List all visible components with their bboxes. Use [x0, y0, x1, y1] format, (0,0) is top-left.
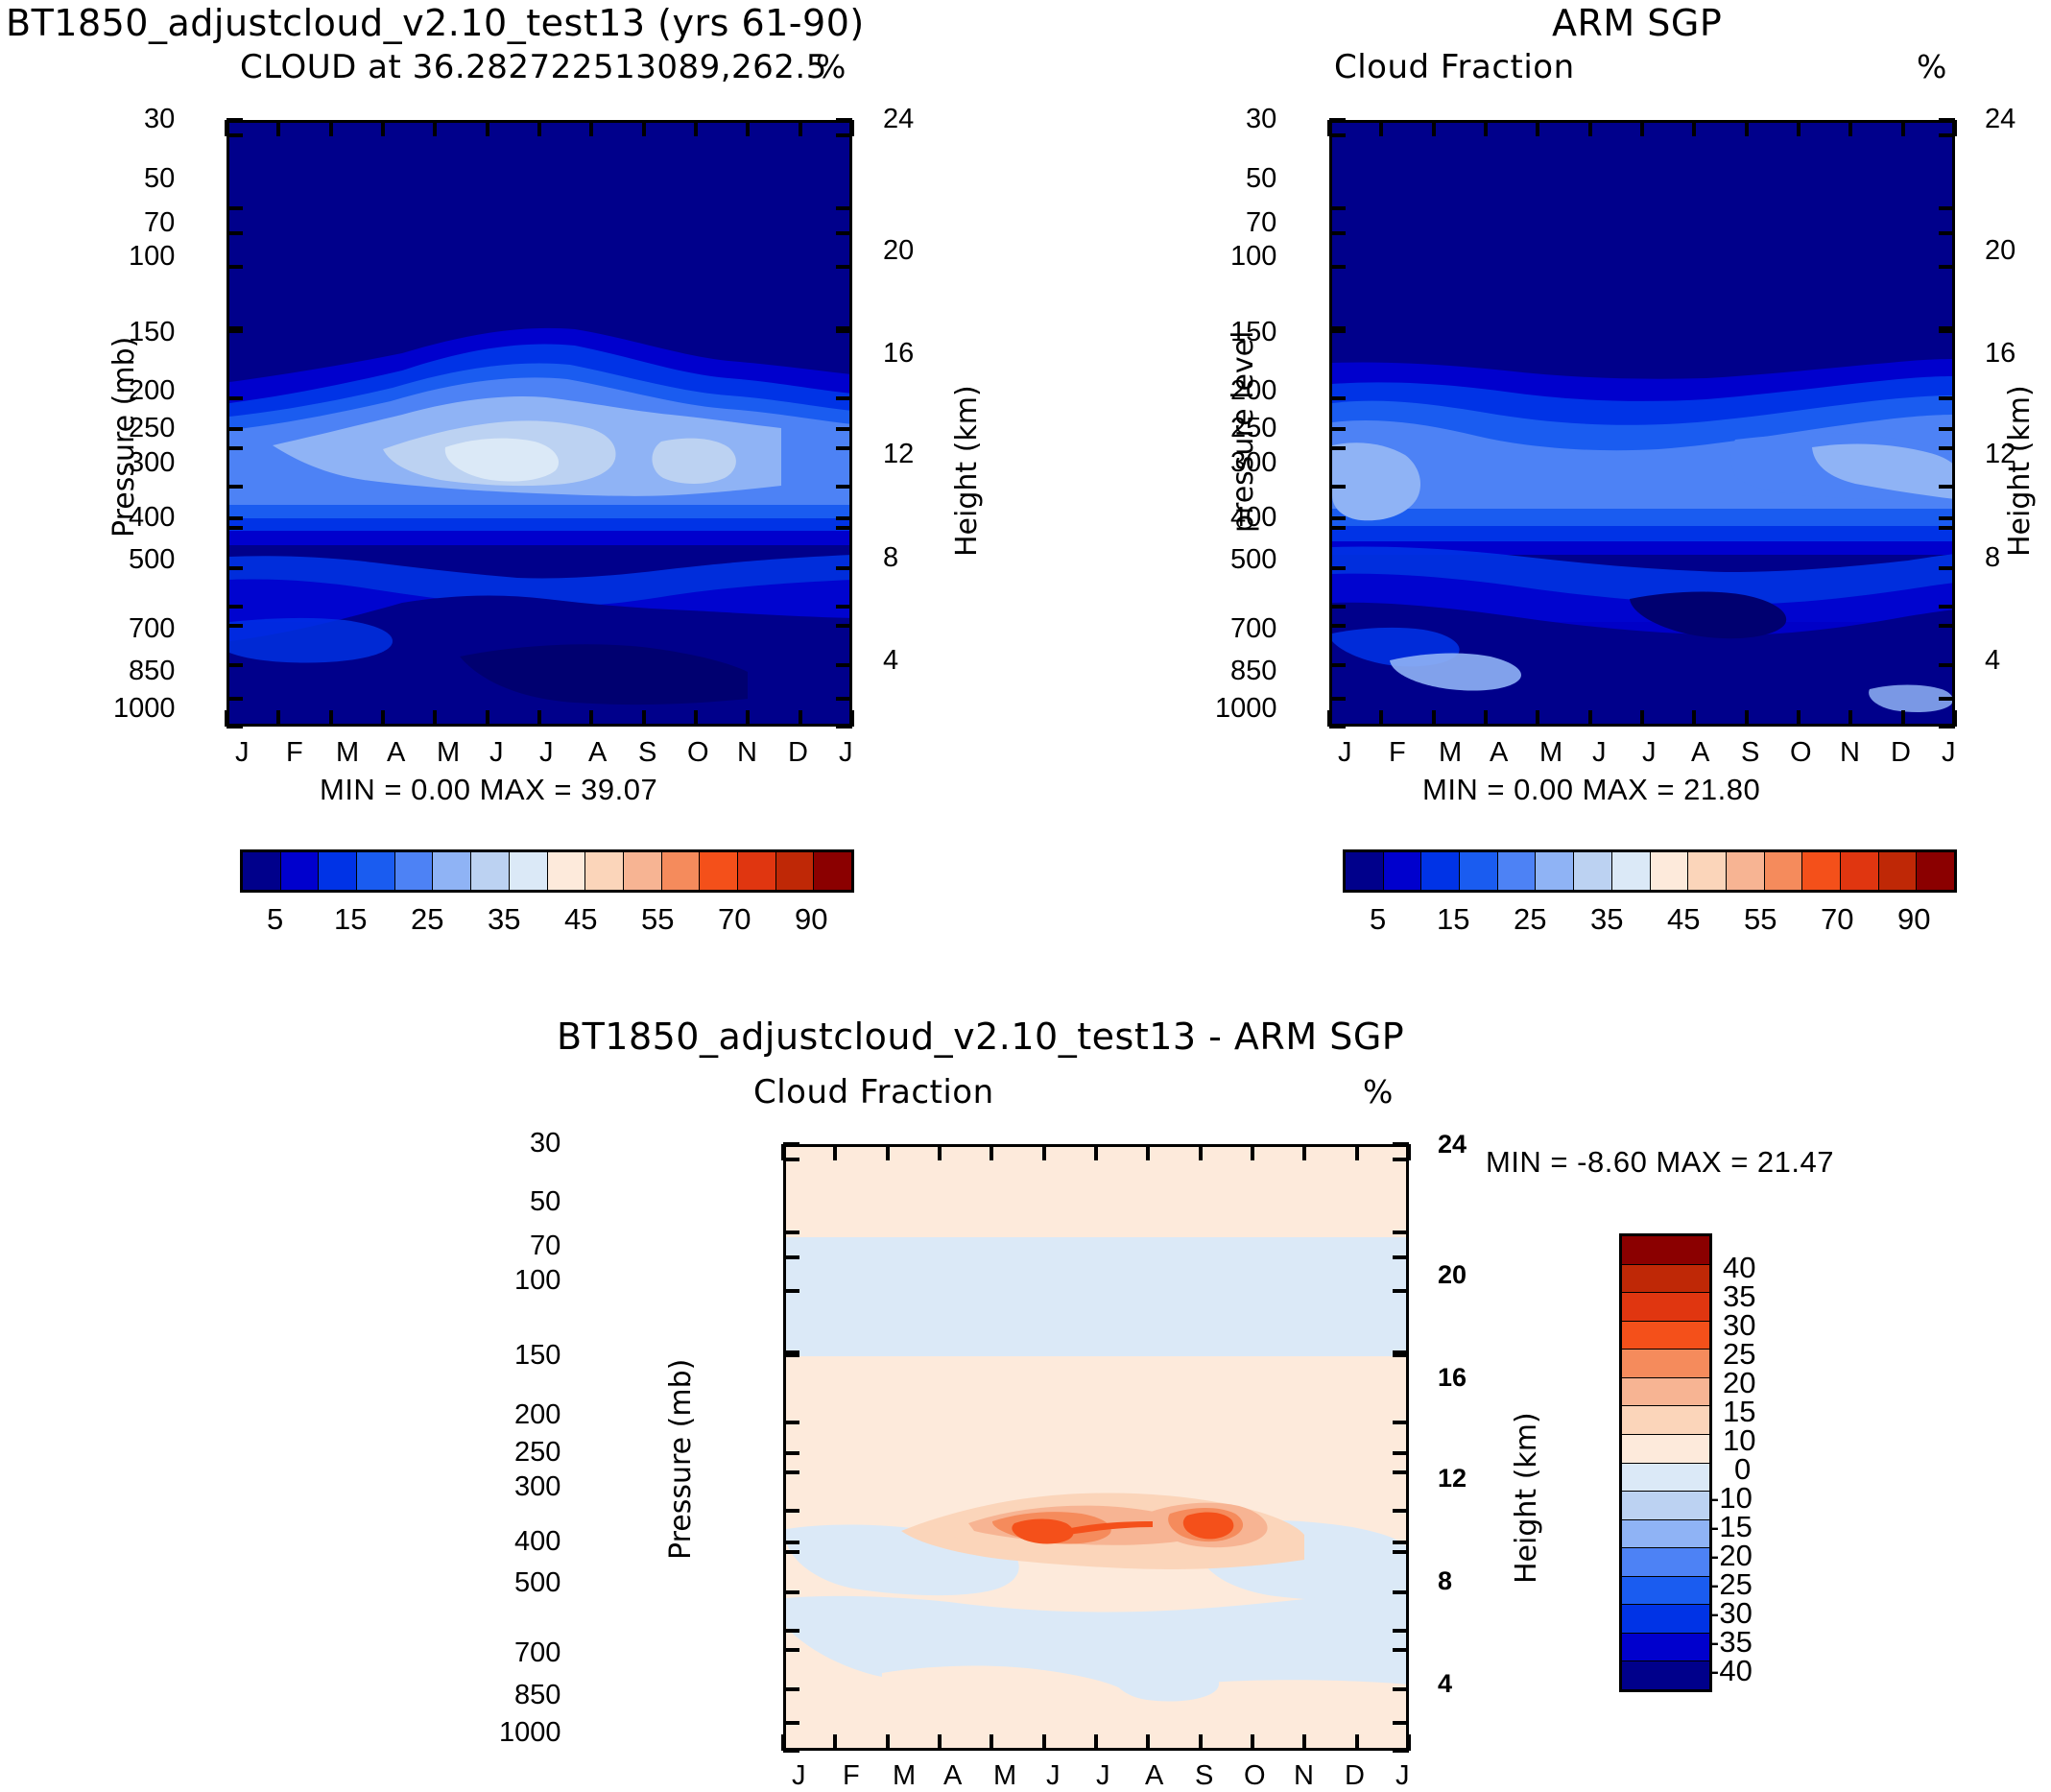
panel3-minmax: MIN = -8.60 MAX = 21.47	[1486, 1145, 1834, 1180]
ytick-label: 300	[129, 447, 175, 479]
panel1-colorbar[interactable]	[240, 849, 854, 893]
axis-tick	[1797, 710, 1801, 727]
axis-tick	[329, 710, 333, 727]
axis-tick	[836, 265, 852, 269]
axis-tick	[836, 329, 852, 333]
cbar-label: 25	[1514, 902, 1546, 937]
ytick-label: 12	[1438, 1464, 1467, 1493]
colorbar-cell	[1622, 1464, 1709, 1493]
ytick-label: 700	[129, 613, 175, 645]
axis-tick	[1939, 566, 1955, 570]
ytick-label: 24	[1438, 1130, 1467, 1159]
ytick-label: 500	[1230, 544, 1276, 576]
colorbar-cell	[662, 852, 701, 890]
axis-tick	[1393, 1648, 1409, 1652]
axis-tick	[1640, 710, 1644, 727]
axis-tick	[1302, 1144, 1306, 1160]
colorbar-cell	[1498, 852, 1537, 890]
axis-tick	[381, 120, 385, 136]
ytick-label: 1000	[113, 693, 176, 725]
cbar-label: 90	[1897, 902, 1930, 937]
colorbar-cell	[1802, 852, 1841, 890]
axis-tick	[1329, 265, 1346, 269]
ytick-label: 100	[514, 1265, 560, 1297]
axis-tick	[227, 446, 243, 450]
axis-tick	[799, 120, 802, 136]
ytick-label: 16	[1438, 1363, 1467, 1393]
colorbar-cell	[1622, 1548, 1709, 1577]
ytick-label: 50	[530, 1186, 560, 1218]
axis-tick	[227, 605, 243, 609]
axis-tick	[1939, 516, 1955, 520]
axis-tick	[227, 485, 243, 489]
axis-tick	[783, 1255, 799, 1259]
axis-tick	[1329, 396, 1346, 400]
axis-tick	[1379, 710, 1383, 727]
xtick-label: A	[1490, 737, 1508, 769]
axis-tick	[1393, 1721, 1409, 1725]
axis-tick	[836, 231, 852, 235]
xtick-label: O	[1790, 737, 1812, 769]
axis-tick	[836, 396, 852, 400]
axis-tick	[227, 427, 243, 431]
axis-tick	[783, 1421, 799, 1424]
ytick-label: 250	[1230, 413, 1276, 444]
axis-tick	[836, 427, 852, 431]
axis-tick	[1393, 1687, 1409, 1691]
axis-tick	[1536, 120, 1539, 136]
xtick-label: O	[1244, 1760, 1266, 1792]
colorbar-cell	[1879, 852, 1918, 890]
axis-tick	[783, 1590, 799, 1594]
axis-tick	[1848, 710, 1852, 727]
axis-tick	[1042, 1144, 1046, 1160]
axis-tick	[1939, 485, 1955, 489]
axis-tick	[1393, 1509, 1409, 1513]
axis-tick	[433, 710, 437, 727]
axis-tick	[938, 1144, 942, 1160]
axis-tick	[836, 605, 852, 609]
panel3-subtitle: Cloud Fraction	[753, 1073, 994, 1111]
axis-tick	[1094, 1734, 1098, 1751]
axis-tick	[836, 446, 852, 450]
axis-tick	[381, 710, 385, 727]
axis-tick	[227, 118, 243, 122]
axis-tick	[1939, 396, 1955, 400]
colorbar-cell	[471, 852, 510, 890]
axis-tick	[1745, 120, 1749, 136]
axis-tick	[1484, 710, 1488, 727]
ytick-label: 1000	[1215, 693, 1277, 725]
ytick-label: 250	[129, 413, 175, 444]
xtick-label: S	[1195, 1760, 1213, 1792]
axis-tick	[836, 566, 852, 570]
cbar-label: 55	[1744, 902, 1777, 937]
axis-tick	[227, 526, 243, 530]
xtick-label: J	[1942, 737, 1956, 769]
axis-tick	[783, 1470, 799, 1474]
panel3-colorbar[interactable]	[1619, 1233, 1712, 1692]
colorbar-cell	[700, 852, 738, 890]
ytick-label: 200	[129, 375, 175, 407]
ytick-label: 850	[129, 656, 175, 687]
cbar-label: 35	[1590, 902, 1623, 937]
axis-tick	[1199, 1734, 1203, 1751]
axis-tick	[1329, 566, 1346, 570]
axis-tick	[783, 1687, 799, 1691]
colorbar-cell	[1574, 852, 1612, 890]
axis-tick	[1329, 206, 1346, 210]
axis-tick	[1302, 1734, 1306, 1751]
axis-tick	[1355, 1734, 1359, 1751]
panel2-subtitle: Cloud Fraction	[1334, 48, 1575, 86]
xtick-label: J	[839, 737, 853, 769]
axis-tick	[783, 1289, 799, 1293]
axis-tick	[833, 1734, 837, 1751]
axis-tick	[990, 1144, 993, 1160]
xtick-label: J	[235, 737, 250, 769]
axis-tick	[990, 1734, 993, 1751]
ytick-label: 24	[883, 104, 914, 135]
ytick-label: 400	[514, 1526, 560, 1558]
ytick-label: 50	[144, 163, 175, 195]
axis-tick	[1393, 1353, 1409, 1357]
colorbar-cell	[1727, 852, 1765, 890]
ytick-label: 100	[129, 241, 175, 273]
axis-tick	[1939, 663, 1955, 667]
axis-tick	[1939, 427, 1955, 431]
axis-tick	[1329, 526, 1346, 530]
xtick-label: A	[387, 737, 405, 769]
axis-tick	[276, 710, 280, 727]
axis-tick	[1939, 697, 1955, 701]
axis-tick	[938, 1734, 942, 1751]
axis-tick	[1329, 624, 1346, 628]
xtick-label: M	[437, 737, 460, 769]
axis-tick	[886, 1734, 890, 1751]
colorbar-cell	[1622, 1634, 1709, 1662]
ytick-label: 20	[883, 235, 914, 267]
axis-tick	[1939, 526, 1955, 530]
axis-tick	[1939, 624, 1955, 628]
colorbar-cell	[548, 852, 586, 890]
ytick-label: 150	[1230, 317, 1276, 348]
axis-tick	[1588, 710, 1592, 727]
ytick-label: 12	[883, 439, 914, 470]
ytick-label: 150	[514, 1340, 560, 1372]
panel2-units: %	[1917, 48, 1946, 85]
cbar-label: 90	[795, 902, 827, 937]
xtick-label: J	[1642, 737, 1657, 769]
colorbar-cell	[1841, 852, 1879, 890]
xtick-label: F	[1389, 737, 1406, 769]
ytick-label: 200	[514, 1399, 560, 1431]
colorbar-cell	[1384, 852, 1422, 890]
axis-tick	[836, 118, 852, 122]
axis-tick	[227, 206, 243, 210]
cbar-label: 70	[718, 902, 751, 937]
axis-tick	[589, 120, 593, 136]
axis-tick	[1484, 120, 1488, 136]
colorbar-cell	[1688, 852, 1727, 890]
axis-tick	[227, 725, 243, 729]
colorbar-cell	[1622, 1265, 1709, 1294]
cbar-label: -40	[1709, 1654, 1753, 1688]
ytick-label: 4	[1438, 1669, 1452, 1699]
xtick-label: J	[1395, 1760, 1410, 1792]
xtick-label: A	[1691, 737, 1709, 769]
axis-tick	[1393, 1451, 1409, 1455]
cbar-label: 5	[1370, 902, 1386, 937]
axis-tick	[1042, 1734, 1046, 1751]
axis-tick	[799, 710, 802, 727]
colorbar-cell	[1622, 1322, 1709, 1350]
axis-tick	[783, 1550, 799, 1554]
ytick-label: 30	[1246, 104, 1276, 135]
axis-tick	[1329, 605, 1346, 609]
axis-tick	[1393, 1541, 1409, 1544]
axis-tick	[589, 710, 593, 727]
ytick-label: 30	[530, 1128, 560, 1159]
axis-tick	[642, 710, 646, 727]
axis-tick	[886, 1144, 890, 1160]
ytick-label: 50	[1246, 163, 1276, 195]
panel3-suptitle: BT1850_adjustcloud_v2.10_test13 - ARM SG…	[557, 1015, 1404, 1058]
axis-tick	[329, 120, 333, 136]
axis-tick	[1393, 1231, 1409, 1234]
xtick-label: S	[638, 737, 656, 769]
axis-tick	[836, 516, 852, 520]
ytick-label: 700	[1230, 613, 1276, 645]
axis-tick	[486, 710, 489, 727]
ytick-label: 70	[1246, 207, 1276, 239]
colorbar-cell	[1917, 852, 1954, 890]
axis-tick	[783, 1509, 799, 1513]
axis-tick	[836, 663, 852, 667]
axis-tick	[1939, 118, 1955, 122]
axis-tick	[694, 710, 698, 727]
axis-tick	[1329, 697, 1346, 701]
ytick-label: 70	[144, 207, 175, 239]
panel2-minmax: MIN = 0.00 MAX = 21.80	[1422, 773, 1760, 807]
axis-tick	[227, 231, 243, 235]
axis-tick	[1939, 133, 1955, 137]
axis-tick	[1146, 1144, 1150, 1160]
axis-tick	[1536, 710, 1539, 727]
axis-tick	[836, 485, 852, 489]
ytick-label: 70	[530, 1231, 560, 1262]
axis-tick	[1939, 329, 1955, 333]
axis-tick	[783, 1721, 799, 1725]
axis-tick	[1939, 231, 1955, 235]
xtick-label: F	[286, 737, 303, 769]
axis-tick	[1393, 1749, 1409, 1753]
ytick-label: 400	[1230, 502, 1276, 534]
panel2-colorbar[interactable]	[1343, 849, 1957, 893]
colorbar-cell	[1622, 1378, 1709, 1407]
ytick-label: 4	[1985, 645, 2000, 677]
axis-tick	[783, 1749, 799, 1753]
axis-tick	[1939, 725, 1955, 729]
colorbar-cell	[1622, 1293, 1709, 1322]
axis-tick	[1329, 231, 1346, 235]
ytick-label: 24	[1985, 104, 2015, 135]
panel1-units: %	[816, 48, 846, 85]
colorbar-cell	[433, 852, 471, 890]
ytick-label: 300	[1230, 447, 1276, 479]
xtick-label: S	[1741, 737, 1759, 769]
axis-tick	[1692, 120, 1696, 136]
colorbar-cell	[814, 852, 851, 890]
axis-tick	[1329, 516, 1346, 520]
colorbar-cell	[585, 852, 624, 890]
ytick-label: 4	[883, 645, 898, 677]
axis-tick	[227, 663, 243, 667]
cbar-label: 45	[1667, 902, 1700, 937]
axis-tick	[1094, 1144, 1098, 1160]
ytick-label: 500	[129, 544, 175, 576]
axis-tick	[836, 133, 852, 137]
axis-tick	[1329, 485, 1346, 489]
axis-tick	[1251, 1734, 1254, 1751]
xtick-label: N	[737, 737, 757, 769]
panel3-plot-area	[783, 1144, 1409, 1751]
panel1-plot-area	[227, 120, 852, 727]
colorbar-cell	[1651, 852, 1689, 890]
xtick-label: D	[1345, 1760, 1365, 1792]
xtick-label: J	[539, 737, 554, 769]
axis-tick	[1329, 427, 1346, 431]
colorbar-cell	[1622, 1350, 1709, 1378]
xtick-label: D	[788, 737, 808, 769]
axis-tick	[836, 725, 852, 729]
panel3-ylabel-left: Pressure (mb)	[664, 1359, 698, 1560]
axis-tick	[227, 697, 243, 701]
axis-tick	[227, 566, 243, 570]
cbar-label: 15	[334, 902, 367, 937]
panel1-suptitle: BT1850_adjustcloud_v2.10_test13 (yrs 61-…	[6, 2, 865, 44]
colorbar-cell	[1622, 1661, 1709, 1689]
axis-tick	[783, 1541, 799, 1544]
axis-tick	[1329, 725, 1346, 729]
axis-tick	[1199, 1144, 1203, 1160]
axis-tick	[783, 1451, 799, 1455]
colorbar-cell	[1622, 1605, 1709, 1634]
panel3-ylabel-right: Height (km)	[1510, 1412, 1543, 1584]
panel2-suptitle: ARM SGP	[1552, 2, 1722, 44]
xtick-label: J	[489, 737, 504, 769]
ytick-label: 150	[129, 317, 175, 348]
axis-tick	[1432, 120, 1436, 136]
cbar-label: 35	[488, 902, 520, 937]
colorbar-cell	[1622, 1577, 1709, 1606]
axis-tick	[1692, 710, 1696, 727]
axis-tick	[486, 120, 489, 136]
xtick-label: M	[893, 1760, 916, 1792]
axis-tick	[537, 710, 541, 727]
panel1-subtitle: CLOUD at 36.282722513089,262.5	[240, 48, 827, 86]
xtick-label: F	[843, 1760, 860, 1792]
colorbar-cell	[1622, 1492, 1709, 1520]
axis-tick	[783, 1231, 799, 1234]
ytick-label: 300	[514, 1471, 560, 1503]
ytick-label: 400	[129, 502, 175, 534]
panel3-units: %	[1363, 1073, 1393, 1111]
xtick-label: A	[1145, 1760, 1163, 1792]
xtick-label: M	[993, 1760, 1016, 1792]
ytick-label: 16	[883, 338, 914, 370]
axis-tick	[227, 265, 243, 269]
colorbar-cell	[1612, 852, 1651, 890]
xtick-label: J	[1096, 1760, 1110, 1792]
axis-tick	[227, 624, 243, 628]
ytick-label: 20	[1438, 1260, 1467, 1290]
ytick-label: 30	[144, 104, 175, 135]
xtick-label: M	[1539, 737, 1562, 769]
panel2-ylabel-right: Height (km)	[2003, 385, 2037, 557]
cbar-label: 55	[641, 902, 674, 937]
xtick-label: J	[1338, 737, 1352, 769]
ytick-label: 500	[514, 1567, 560, 1599]
axis-tick	[1355, 1144, 1359, 1160]
xtick-label: D	[1891, 737, 1911, 769]
axis-tick	[1379, 120, 1383, 136]
axis-tick	[1393, 1255, 1409, 1259]
colorbar-cell	[1622, 1435, 1709, 1464]
axis-tick	[642, 120, 646, 136]
xtick-label: M	[336, 737, 359, 769]
ytick-label: 20	[1985, 235, 2015, 267]
axis-tick	[1393, 1421, 1409, 1424]
axis-tick	[746, 120, 750, 136]
ytick-label: 100	[1230, 241, 1276, 273]
axis-tick	[836, 526, 852, 530]
axis-tick	[1329, 446, 1346, 450]
ytick-label: 8	[883, 542, 898, 574]
axis-tick	[836, 697, 852, 701]
axis-tick	[1393, 1590, 1409, 1594]
axis-tick	[1432, 710, 1436, 727]
axis-tick	[1901, 710, 1905, 727]
colorbar-cell	[1421, 852, 1460, 890]
axis-tick	[276, 120, 280, 136]
colorbar-cell	[1765, 852, 1803, 890]
colorbar-cell	[738, 852, 776, 890]
axis-tick	[1588, 120, 1592, 136]
axis-tick	[1939, 265, 1955, 269]
cbar-label: 70	[1821, 902, 1853, 937]
axis-tick	[783, 1158, 799, 1161]
axis-tick	[783, 1629, 799, 1633]
colorbar-cell	[319, 852, 357, 890]
colorbar-cell	[1460, 852, 1498, 890]
panel1-ylabel-right: Height (km)	[950, 385, 984, 557]
colorbar-cell	[510, 852, 548, 890]
axis-tick	[1745, 710, 1749, 727]
panel3-colorbar-labels: 40 35 30 25 20 15 10 0 -10 -15 -20 -25 -…	[1723, 1233, 1857, 1692]
colorbar-cell	[357, 852, 395, 890]
axis-tick	[227, 329, 243, 333]
xtick-label: N	[1840, 737, 1860, 769]
cbar-label: 15	[1437, 902, 1469, 937]
axis-tick	[227, 396, 243, 400]
axis-tick	[1939, 446, 1955, 450]
axis-tick	[1393, 1142, 1409, 1146]
axis-tick	[833, 1144, 837, 1160]
axis-tick	[537, 120, 541, 136]
axis-tick	[1393, 1629, 1409, 1633]
xtick-label: J	[1046, 1760, 1061, 1792]
